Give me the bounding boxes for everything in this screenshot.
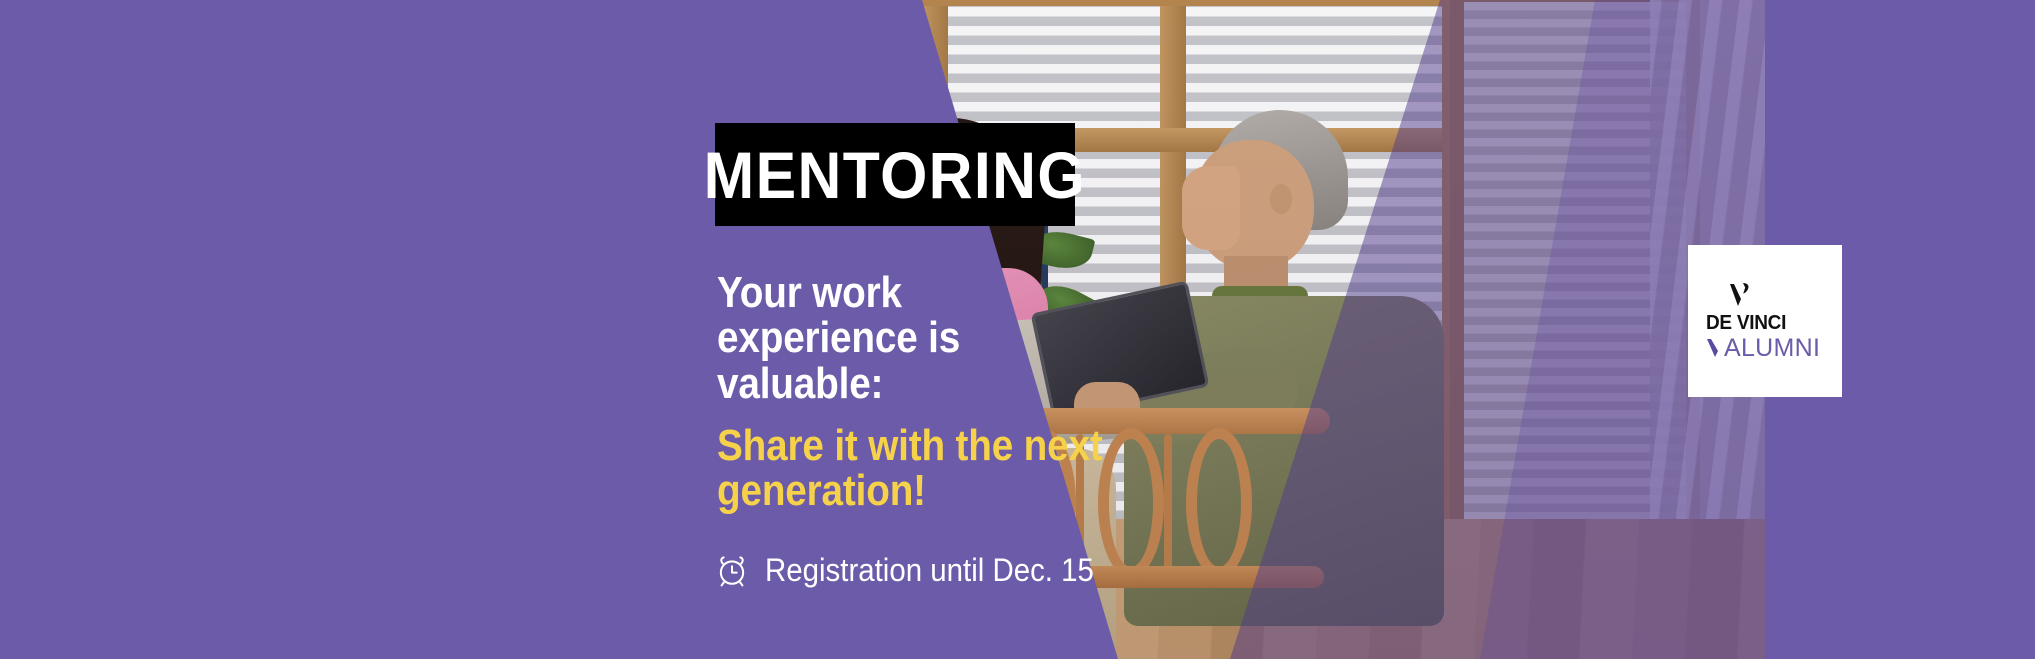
logo-alumni-text: ALUMNI bbox=[1724, 336, 1820, 361]
logo-devinci-text: DE VINCI bbox=[1706, 313, 1786, 333]
mentoring-banner: MENTORING Your work experience is valuab… bbox=[0, 0, 2035, 659]
alumni-v-mark-icon bbox=[1706, 338, 1721, 360]
mentor-ear bbox=[1270, 184, 1292, 214]
headline: Your work experience is valuable: bbox=[717, 270, 1069, 406]
registration-deadline-text: Registration until Dec. 15 bbox=[765, 552, 1094, 589]
logo-alumni-row: ALUMNI bbox=[1706, 336, 1820, 361]
mentor-face bbox=[1182, 166, 1240, 250]
devinci-v-mark-icon bbox=[1728, 281, 1752, 311]
rattan-loop-4 bbox=[1186, 428, 1252, 578]
mentoring-badge: MENTORING bbox=[715, 123, 1075, 226]
registration-row: Registration until Dec. 15 bbox=[715, 552, 1123, 589]
mentoring-badge-label: MENTORING bbox=[704, 142, 1086, 208]
alarm-clock-icon bbox=[715, 554, 749, 588]
copy-block: MENTORING Your work experience is valuab… bbox=[715, 0, 1135, 659]
rattan-strut-3 bbox=[1164, 434, 1172, 572]
devinci-alumni-logo: DE VINCI ALUMNI bbox=[1688, 245, 1842, 397]
subheadline: Share it with the next generation! bbox=[717, 423, 1104, 514]
